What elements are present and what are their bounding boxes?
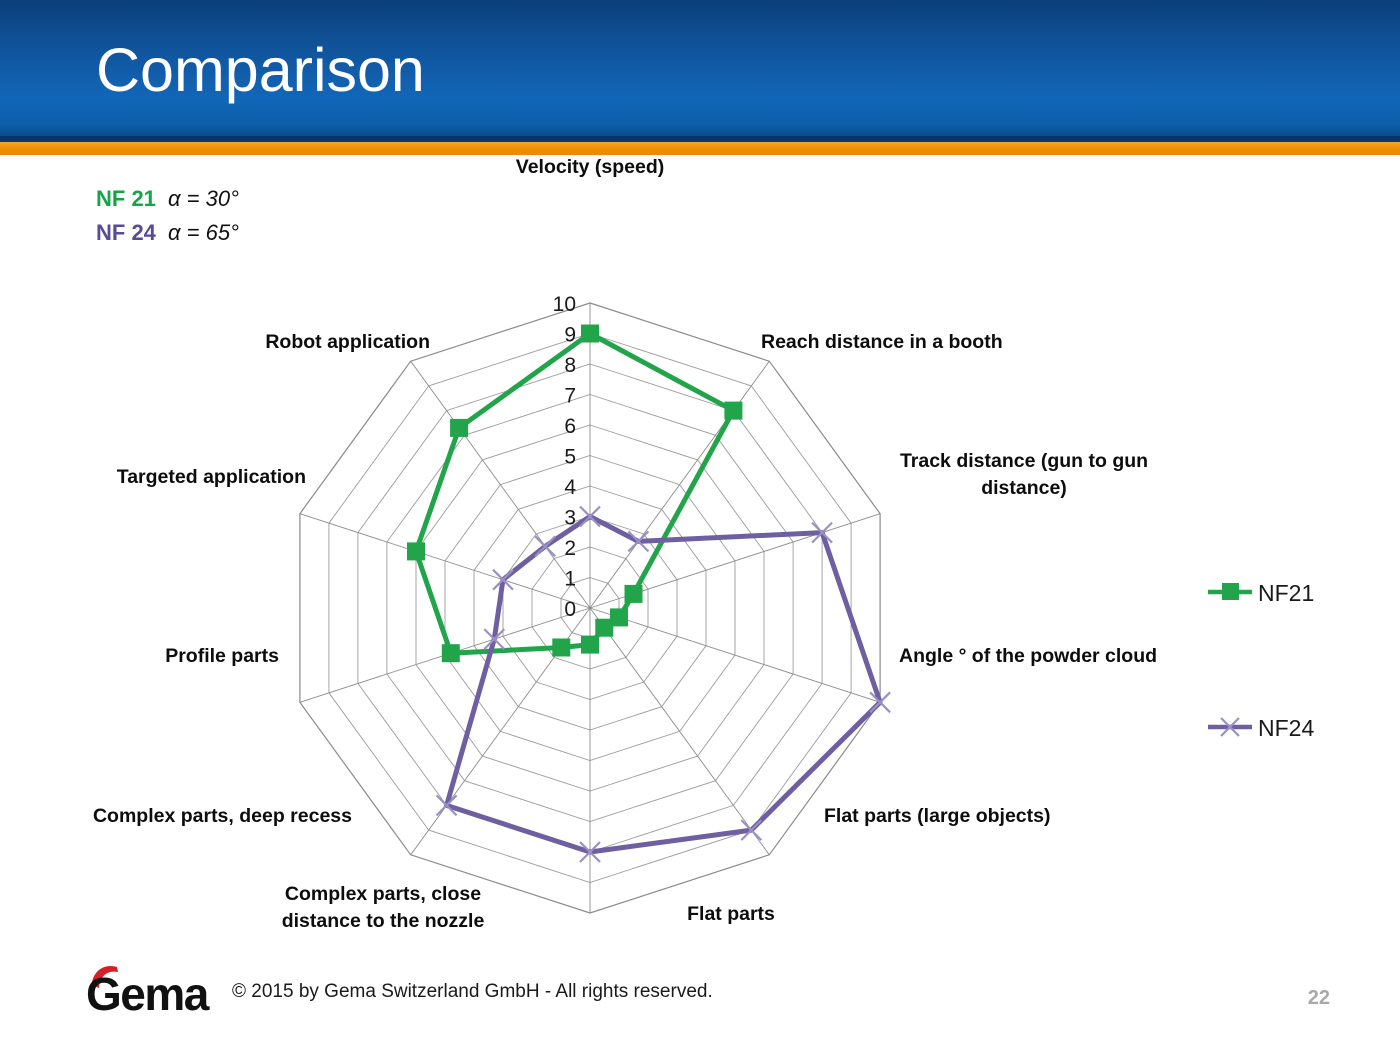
radial-tick-label-5: 5 xyxy=(564,446,576,469)
legend-label-NF24: NF24 xyxy=(1258,715,1314,741)
radar-marker-NF21-5 xyxy=(581,636,599,654)
axis-label-profile-parts: Profile parts xyxy=(165,645,279,667)
axis-label-targeted-application: Targeted application xyxy=(117,466,306,488)
axis-label-complex-parts-deep-recess: Complex parts, deep recess xyxy=(93,805,352,827)
radial-tick-label-10: 10 xyxy=(553,293,576,316)
radar-chart-svg: 012345678910 Velocity (speed)Reach dista… xyxy=(0,155,1400,955)
radar-marker-NF21-6 xyxy=(552,639,570,657)
legend-entry-NF24[interactable]: NF24 xyxy=(1208,715,1314,741)
radar-marker-NF21-4 xyxy=(595,619,613,637)
radar-series-line-NF24 xyxy=(447,517,880,853)
slide: Comparison NF 21α = 30° NF 24α = 65° 012… xyxy=(0,0,1400,1050)
radial-tick-label-3: 3 xyxy=(564,507,576,530)
radar-grid xyxy=(300,303,880,913)
radar-spoke-4 xyxy=(590,608,769,855)
radar-marker-NF24-9 xyxy=(535,536,555,556)
radial-tick-label-8: 8 xyxy=(564,354,576,377)
radial-tick-label-0: 0 xyxy=(564,598,576,621)
legend-entry-NF21[interactable]: NF21 xyxy=(1208,580,1314,606)
gema-logo-text: Gema xyxy=(86,967,208,1021)
radar-series-layer xyxy=(407,325,890,863)
legend-label-NF21: NF21 xyxy=(1258,580,1314,606)
axis-label-flat-parts-large-objects: Flat parts (large objects) xyxy=(824,805,1050,827)
radial-tick-label-7: 7 xyxy=(564,385,576,408)
radar-marker-NF21-7 xyxy=(442,644,460,662)
radar-category-labels: Velocity (speed)Reach distance in a boot… xyxy=(93,156,1157,932)
radar-marker-NF21-9 xyxy=(450,419,468,437)
radar-marker-NF21-1 xyxy=(724,402,742,420)
axis-label-velocity-speed: Velocity (speed) xyxy=(516,156,664,178)
slide-footer: Gema © 2015 by Gema Switzerland GmbH - A… xyxy=(0,955,1400,1050)
axis-label-robot-application: Robot application xyxy=(265,331,430,353)
axis-label-complex-parts-close-distance-to-the-nozzle: Complex parts, closedistance to the nozz… xyxy=(282,883,485,932)
radar-marker-NF21-0 xyxy=(581,325,599,343)
legend-marker-square-NF21 xyxy=(1222,583,1239,600)
radial-tick-label-1: 1 xyxy=(564,568,576,591)
radial-tick-label-6: 6 xyxy=(564,415,576,438)
axis-label-reach-distance-in-a-booth: Reach distance in a booth xyxy=(761,331,1003,353)
chart-legend: NF21NF24 xyxy=(1208,580,1314,741)
radar-marker-NF21-2 xyxy=(625,585,643,603)
radar-spoke-1 xyxy=(590,361,769,608)
axis-label-track-distance-gun-to-gun-distance: Track distance (gun to gundistance) xyxy=(900,450,1148,499)
radial-axis-ticks: 012345678910 xyxy=(553,293,577,621)
gema-logo: Gema xyxy=(86,965,226,1019)
radial-tick-label-2: 2 xyxy=(564,537,576,560)
header-orange-accent xyxy=(0,142,1400,155)
page-title: Comparison xyxy=(96,40,425,101)
axis-label-angle-of-the-powder-cloud: Angle ° of the powder cloud xyxy=(899,645,1157,667)
radar-chart: 012345678910 Velocity (speed)Reach dista… xyxy=(0,155,1400,955)
radar-marker-NF21-8 xyxy=(407,542,425,560)
copyright-text: © 2015 by Gema Switzerland GmbH - All ri… xyxy=(232,981,713,1003)
axis-label-flat-parts: Flat parts xyxy=(687,903,775,925)
radial-tick-label-9: 9 xyxy=(564,324,576,347)
radial-tick-label-4: 4 xyxy=(564,476,576,499)
page-number: 22 xyxy=(1308,987,1330,1010)
